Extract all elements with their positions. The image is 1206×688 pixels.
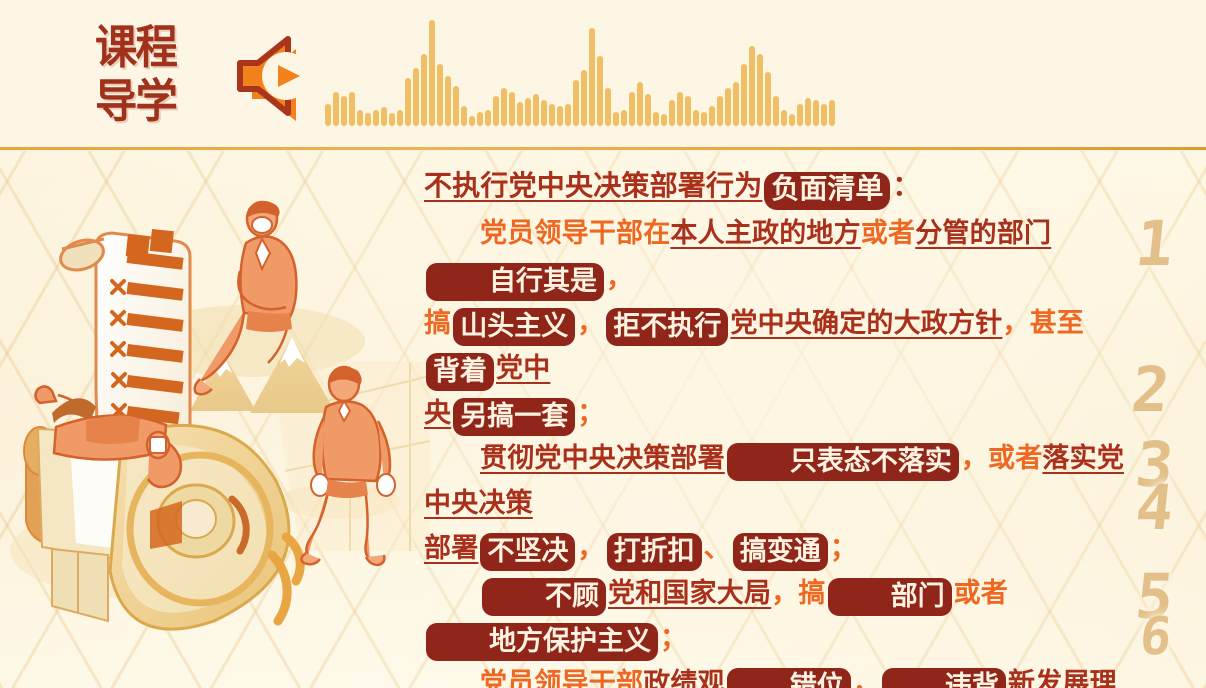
- waveform-bar: [781, 110, 787, 126]
- text-run-plain: 搞: [424, 308, 451, 338]
- megaphone-scroll-people-illustration: [0, 151, 430, 688]
- text-run-dark-ul: 党中: [496, 353, 550, 383]
- waveform-bar: [373, 110, 379, 126]
- text-run-plain: ，: [853, 668, 880, 688]
- keyword-badge: 不坚决: [480, 533, 575, 571]
- keyword-badge: 不顾: [482, 578, 606, 616]
- article-line-p3-1: 不顾党和国家大局，搞部门或者地方保护主义；: [424, 571, 1146, 661]
- waveform-bar: [509, 92, 515, 126]
- waveform-bar: [637, 82, 643, 126]
- keyword-badge: 违背: [882, 668, 1006, 688]
- waveform-bar: [581, 70, 587, 126]
- waveform-bar: [421, 54, 427, 126]
- waveform-bar: [709, 106, 715, 126]
- waveform-bar: [485, 110, 491, 126]
- waveform-bar: [805, 98, 811, 126]
- keyword-badge: 只表态不落实: [727, 443, 959, 481]
- text-run-dark-ul: 分管的部门: [915, 218, 1051, 248]
- waveform-bar: [453, 86, 459, 126]
- waveform-bar: [613, 112, 619, 126]
- keyword-badge: 自行其是: [426, 263, 604, 301]
- waveform-bar: [365, 113, 371, 126]
- keyword-badge: 山头主义: [453, 308, 575, 346]
- speaker-play-icon[interactable]: [228, 25, 326, 125]
- waveform-bar: [429, 20, 435, 126]
- waveform-bar: [765, 72, 771, 126]
- waveform-bar: [589, 28, 595, 126]
- text-run-plain: 或者: [954, 578, 1008, 608]
- page-header: 课程 导学: [0, 0, 1206, 150]
- waveform-bar: [749, 46, 755, 126]
- waveform-bar: [741, 64, 747, 126]
- waveform-bar: [725, 88, 731, 126]
- text-run-dark-ul: 央: [424, 398, 451, 428]
- text-run-plain: 、: [704, 533, 731, 563]
- article-headline: 不执行党中央决策部署行为负面清单：: [424, 165, 1146, 210]
- waveform-bar: [341, 96, 347, 126]
- text-run-dark-ul: 党中央确定的大政方针: [730, 308, 1002, 338]
- headline-badge: 负面清单: [764, 172, 890, 210]
- text-run-plain: ，: [577, 308, 604, 338]
- waveform-bar: [437, 64, 443, 126]
- text-run-dark-ul: 党和国家大局: [608, 578, 771, 608]
- waveform-bar: [461, 106, 467, 126]
- waveform-bar: [605, 88, 611, 126]
- keyword-badge: 搞变通: [733, 533, 828, 571]
- waveform-bar: [349, 92, 355, 126]
- waveform-bar: [773, 96, 779, 126]
- waveform-bar: [789, 114, 795, 126]
- headline-suffix: ：: [892, 171, 920, 202]
- waveform-bar: [621, 110, 627, 126]
- keyword-badge: 错位: [727, 668, 851, 688]
- negative-list-article: 不执行党中央决策部署行为负面清单： 党员领导干部在本人主政的地方或者分管的部门自…: [424, 165, 1146, 685]
- text-run-dark-ul: 本人主政的地方: [670, 218, 860, 248]
- audio-waveform[interactable]: [325, 8, 1185, 126]
- keyword-badge: 另搞一套: [453, 398, 575, 436]
- waveform-bar: [821, 104, 827, 126]
- waveform-bar: [717, 96, 723, 126]
- waveform-bar: [533, 94, 539, 126]
- logo-line-1-text: 课程: [95, 22, 176, 72]
- waveform-bar: [597, 56, 603, 126]
- text-run-plain: 或者: [861, 218, 915, 248]
- text-run-plain: ，搞: [771, 578, 825, 608]
- headline-prefix: 不执行党中央决策部署行为: [424, 171, 762, 202]
- waveform-bar: [477, 112, 483, 126]
- waveform-bar: [501, 88, 507, 126]
- waveform-bar: [389, 113, 395, 126]
- waveform-bar: [685, 96, 691, 126]
- logo-line-1: 课程: [95, 22, 210, 72]
- waveform-bar: [733, 82, 739, 126]
- text-run-plain: ；: [830, 533, 857, 563]
- text-run-plain: ；: [660, 623, 687, 653]
- waveform-bar: [813, 100, 819, 126]
- waveform-bar: [525, 98, 531, 126]
- header-divider: [0, 147, 1206, 150]
- waveform-bar: [693, 110, 699, 126]
- waveform-bar: [493, 96, 499, 126]
- waveform-bar: [557, 106, 563, 126]
- waveform-bar: [661, 114, 667, 126]
- keyword-badge: 拒不执行: [606, 308, 728, 346]
- waveform-bar: [677, 92, 683, 126]
- waveform-bar: [381, 107, 387, 126]
- waveform-bar: [405, 78, 411, 126]
- text-run-dark-ul: 政绩观: [643, 668, 725, 688]
- course-guide-logo: 课程 导学: [95, 22, 210, 128]
- waveform-bar: [565, 104, 571, 126]
- article-line-p2-1: 贯彻党中央决策部署只表态不落实，或者落实党中央决策: [424, 436, 1146, 526]
- text-run-plain: ，甚至: [1002, 308, 1084, 338]
- waveform-bar: [357, 110, 363, 126]
- logo-line-2-text: 导学: [95, 76, 176, 126]
- waveform-bar: [629, 92, 635, 126]
- waveform-bar: [541, 100, 547, 126]
- text-run-plain: 党员领导干部: [480, 668, 643, 688]
- article-paragraph-list: 党员领导干部在本人主政的地方或者分管的部门自行其是，搞山头主义，拒不执行党中央确…: [424, 211, 1146, 688]
- article-line-p1-2: 搞山头主义，拒不执行党中央确定的大政方针，甚至背着党中: [424, 301, 1146, 391]
- waveform-bar: [517, 102, 523, 126]
- waveform-bar: [757, 54, 763, 126]
- waveform-bar: [573, 80, 579, 126]
- waveform-bar: [701, 112, 707, 126]
- waveform-bar: [445, 76, 451, 126]
- keyword-badge: 背着: [426, 353, 494, 391]
- text-run-plain: ，: [606, 263, 633, 293]
- text-run-plain: 党员领导干部在: [480, 218, 670, 248]
- waveform-bar: [333, 92, 339, 126]
- waveform-bar: [645, 94, 651, 126]
- keyword-badge: 地方保护主义: [426, 623, 658, 661]
- keyword-badge: 部门: [828, 578, 952, 616]
- waveform-bar: [653, 112, 659, 126]
- waveform-bar: [549, 104, 555, 126]
- text-run-plain: ；: [577, 398, 604, 428]
- article-line-p1-3: 央另搞一套；: [424, 391, 1146, 436]
- waveform-bar: [469, 116, 475, 126]
- waveform-bar: [669, 100, 675, 126]
- text-run-plain: ，或者: [961, 443, 1043, 473]
- waveform-bar: [397, 110, 403, 126]
- text-run-plain: ，: [577, 533, 604, 563]
- article-line-p2-2: 部署不坚决，打折扣、搞变通；: [424, 526, 1146, 571]
- waveform-bar: [797, 104, 803, 126]
- article-line-p4-1: 党员领导干部政绩观错位，违背新发展理念、背离高质量: [424, 661, 1146, 688]
- content-stage: 1 2 3 4 5 6 不执行党中央决策部署行为负面清单： 党员领导干部在本人主…: [0, 151, 1206, 688]
- text-run-dark-ul: 贯彻党中央决策部署: [480, 443, 725, 473]
- waveform-bar: [325, 104, 331, 126]
- article-line-p1-1: 党员领导干部在本人主政的地方或者分管的部门自行其是，: [424, 211, 1146, 301]
- logo-line-2: 导学: [95, 76, 210, 126]
- keyword-badge: 打折扣: [607, 533, 702, 571]
- waveform-bar: [413, 68, 419, 126]
- waveform-bar: [829, 100, 835, 126]
- text-run-dark-ul: 部署: [424, 533, 478, 563]
